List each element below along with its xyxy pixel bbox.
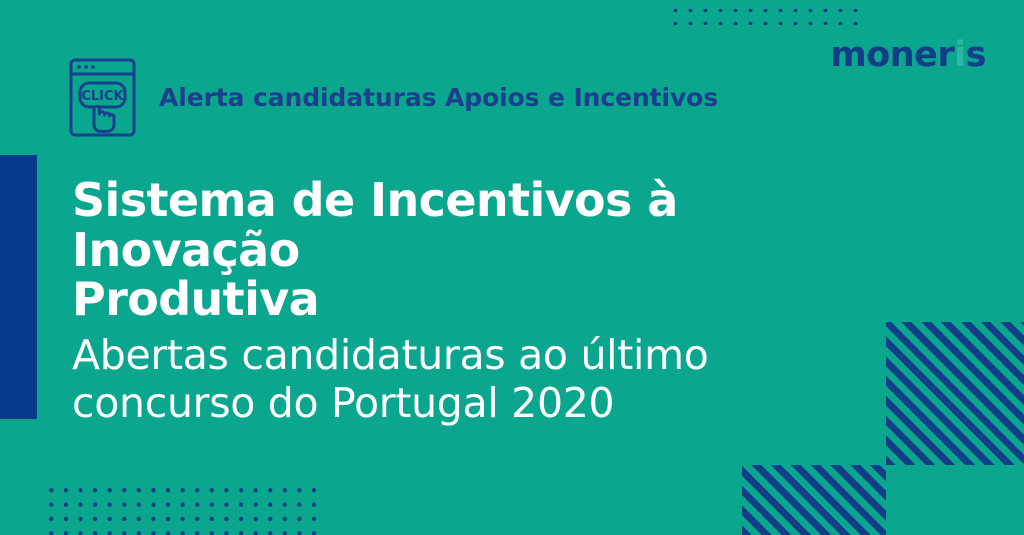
- eyebrow-row: CLICK Alerta candidaturas Apoios e Incen…: [68, 57, 718, 138]
- logo-text-tail: s: [966, 35, 986, 75]
- logo-text-main: moner: [830, 35, 954, 75]
- dot-grid-top-right-icon: [668, 4, 864, 26]
- logo-text-i: i: [954, 35, 966, 75]
- diagonal-stripes-bottom: [742, 465, 886, 535]
- blue-accent-bar: [0, 155, 37, 419]
- svg-text:CLICK: CLICK: [81, 89, 124, 104]
- subheadline-line-1: Abertas candidaturas ao último: [72, 331, 709, 379]
- headline-block: Sistema de Incentivos à InovaçãoProdutiv…: [72, 176, 862, 428]
- click-browser-cursor-icon: CLICK: [68, 57, 137, 138]
- diagonal-stripes-right: [886, 322, 1024, 465]
- page-subtitle: Abertas candidaturas ao últimoconcurso d…: [72, 331, 862, 428]
- page-title: Sistema de Incentivos à InovaçãoProdutiv…: [72, 176, 862, 325]
- headline-line-2: Produtiva: [72, 272, 319, 326]
- promo-banner: moneris CLICK Alerta candidaturas Apoios…: [0, 0, 1024, 535]
- headline-line-1: Sistema de Incentivos à Inovação: [72, 173, 678, 277]
- subheadline-line-2: concurso do Portugal 2020: [72, 379, 614, 427]
- eyebrow-label: Alerta candidaturas Apoios e Incentivos: [159, 83, 718, 112]
- moneris-logo: moneris: [830, 38, 986, 73]
- dot-grid-bottom-left-icon: [44, 483, 317, 535]
